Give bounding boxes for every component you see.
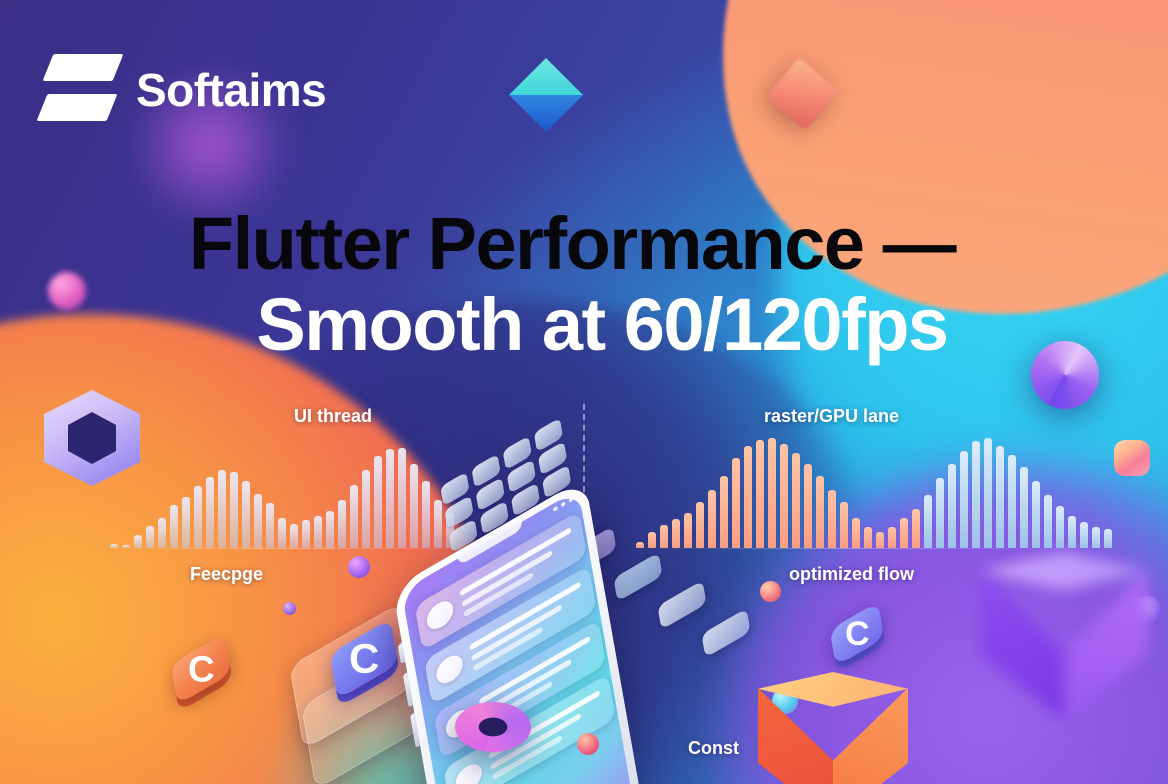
chart-bar [362,470,370,548]
chart-bar [888,527,896,548]
brand-logo[interactable]: Softaims [48,52,326,128]
avatar [435,650,465,688]
chart-bar [804,464,812,548]
violet-cube-left-face [980,570,1064,720]
softaims-slash-mark-icon [48,52,118,128]
phone-volume-down-button [410,713,420,748]
chart-bar [828,490,836,548]
chart-bar [134,535,142,548]
chart-bar [278,518,286,548]
chart-bar [1032,481,1040,548]
chart-bar [206,477,214,548]
chart-bar [230,472,238,548]
avatar [425,596,455,634]
chart-bar [302,520,310,548]
chart-bar [1104,529,1112,548]
chart-bar [158,518,166,548]
chart-bar [972,441,980,548]
violet-sphere-small-icon [283,602,296,615]
phone-volume-up-button [403,673,413,708]
headline-line-1: Flutter Performance — [0,206,1168,281]
chart-bar [1044,495,1052,548]
chart-bar [864,527,872,548]
chart-bar [936,478,944,548]
chart-bar [900,518,908,548]
octahedron-icon [509,58,583,132]
headline-line-2: Smooth at 60/120fps [0,287,1168,362]
peach-rounded-cube-icon [1114,440,1150,476]
chart-bar [182,497,190,548]
chart-bar [924,495,932,548]
phone-mute-button [398,643,406,664]
chart-bar [314,516,322,548]
chart-bar [146,526,154,548]
chart-bar [194,486,202,548]
chart-bar [1092,527,1100,548]
label-raster-gpu-lane: raster/GPU lane [764,406,899,427]
chart-bar [960,451,968,548]
chart-bar [350,485,358,548]
label-ui-thread: UI thread [294,406,372,427]
chart-bar [984,438,992,548]
chart-bar [326,511,334,548]
octahedron-top-face [509,58,583,95]
chart-bar [1056,506,1064,548]
c-badge-purple-glyph: C [845,617,870,651]
c-badge-orange-glyph: C [188,651,215,688]
chart-bar [254,494,262,548]
brand-name: Softaims [136,63,326,117]
coral-sphere-icon [760,581,781,602]
hero-banner: Softaims Flutter Performance — Smooth at… [0,0,1168,784]
chart-bar [266,503,274,548]
violet-cube-right-face [1064,570,1148,720]
chart-bar [290,524,298,548]
label-feedpage: Feecpge [190,564,263,585]
chart-bar [1020,467,1028,548]
avatar [454,759,484,784]
chart-bar [816,476,824,548]
pink-sphere-small-icon [577,733,599,755]
chart-bar [1080,522,1088,548]
pink-torus-icon [455,702,531,752]
page-title: Flutter Performance — Smooth at 60/120fp… [0,206,1168,363]
chart-bar [338,500,346,548]
chart-bar [792,453,800,548]
chart-bar [242,481,250,548]
chart-bar [170,505,178,548]
logo-bar-bottom [37,94,118,121]
phone-mockup [385,495,785,765]
chart-bar [218,470,226,548]
label-optimized-flow: optimized flow [789,564,914,585]
logo-bar-top [43,54,124,81]
violet-sphere-icon [348,556,370,578]
chart-bar [996,446,1004,548]
chart-bar [876,532,884,548]
chart-bar [912,509,920,548]
chart-bar [1068,516,1076,548]
c-badge-blue-glyph: C [349,638,379,680]
chart-bar [840,502,848,548]
violet-cube-icon [980,552,1148,728]
chart-bar [852,518,860,548]
chart-bar [948,464,956,548]
chart-bar [374,456,382,548]
orange-cube-icon [758,672,908,784]
chart-bar [1008,455,1016,548]
octahedron-bottom-face [509,95,583,132]
